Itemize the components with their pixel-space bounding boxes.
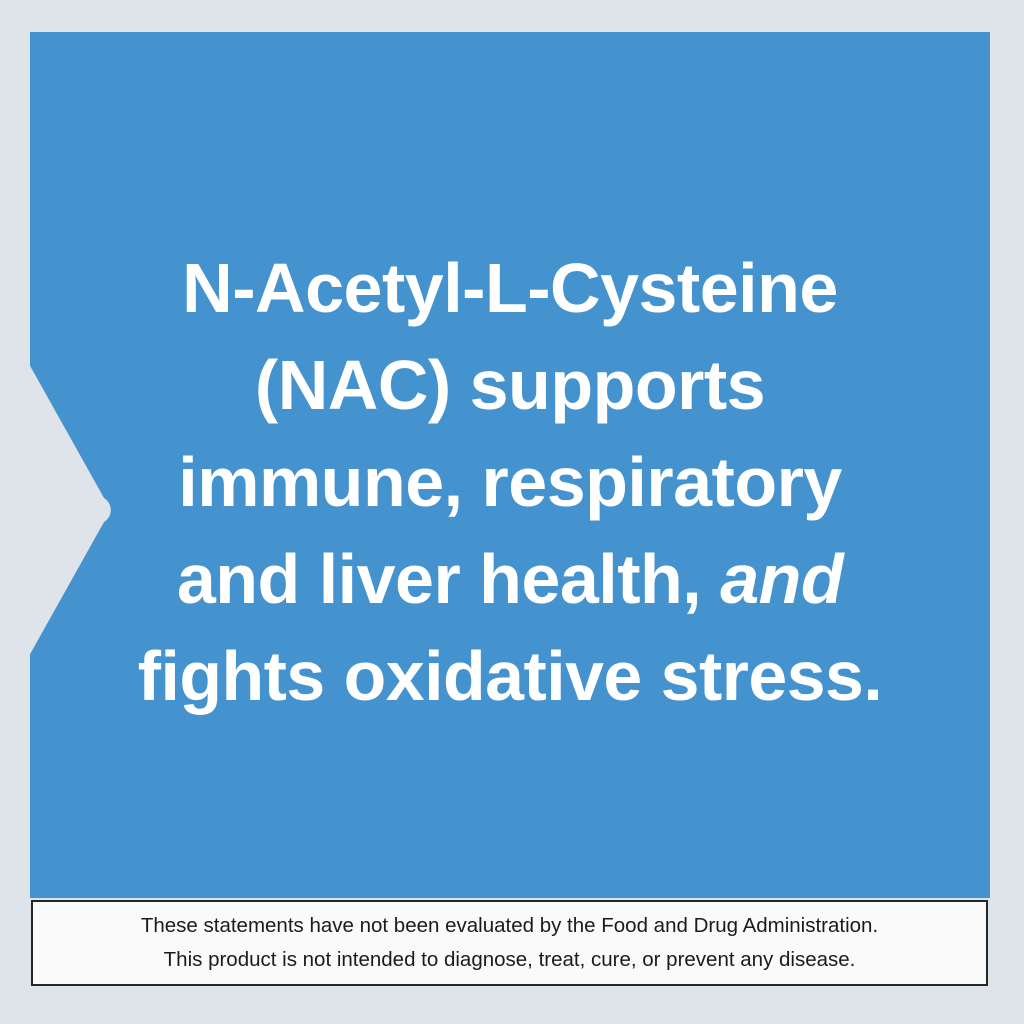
promotional-graphic: N-Acetyl-L-Cysteine (NAC) supports immun…: [0, 0, 1024, 1024]
disclaimer-line-1: These statements have not been evaluated…: [141, 909, 878, 943]
fda-disclaimer-box: These statements have not been evaluated…: [31, 900, 988, 986]
headline-line-4-emphasis: and: [720, 540, 843, 618]
headline-line-2: (NAC) supports: [30, 337, 990, 434]
disclaimer-line-2: This product is not intended to diagnose…: [164, 943, 856, 977]
headline-line-1: N-Acetyl-L-Cysteine: [30, 240, 990, 337]
headline-line-4: and liver health, and: [30, 531, 990, 628]
headline-line-4-text: and liver health,: [177, 540, 720, 618]
headline-line-3: immune, respiratory: [30, 434, 990, 531]
page-title: N-Acetyl-L-Cysteine (NAC) supports immun…: [30, 240, 990, 725]
headline-line-5: fights oxidative stress.: [31, 628, 988, 725]
